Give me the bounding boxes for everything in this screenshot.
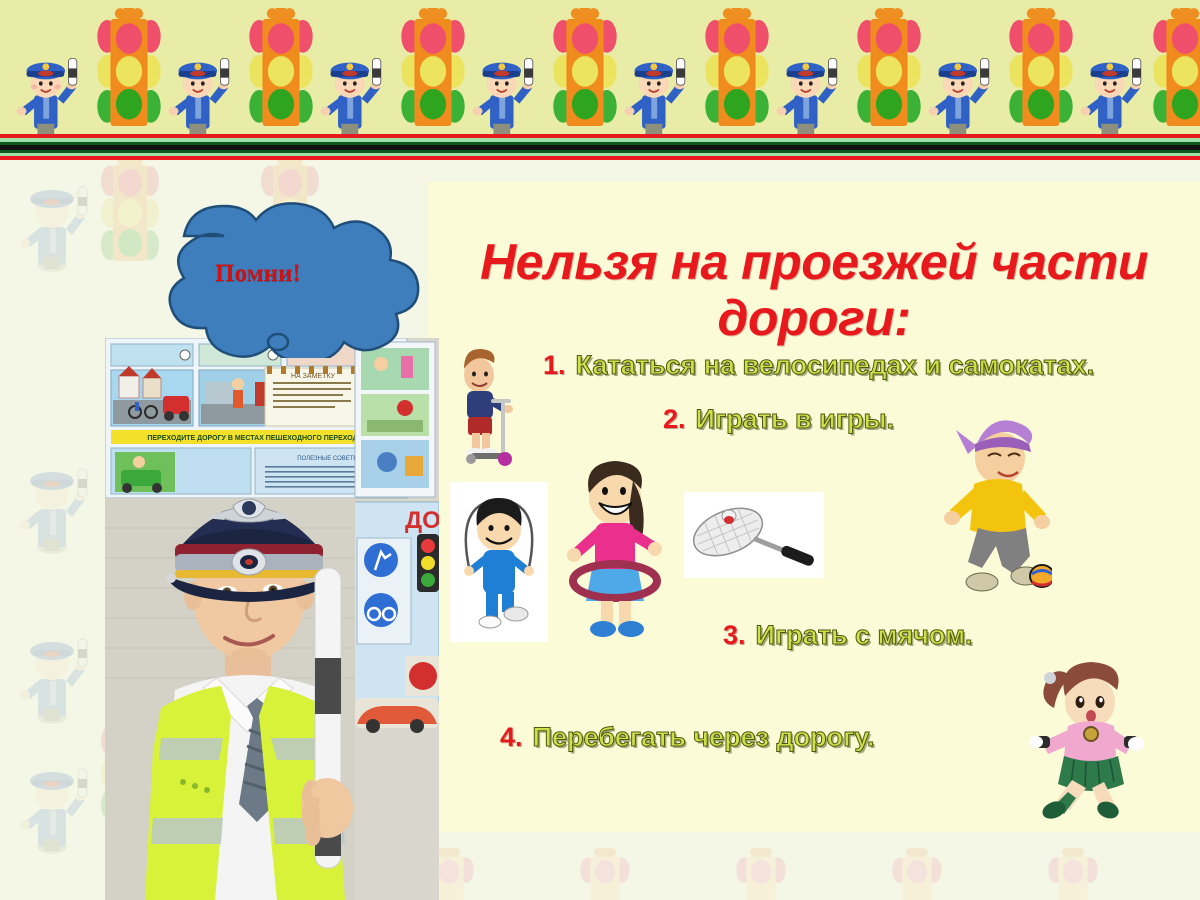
slide-canvas: Нельзя на проезжей части дороги: [0,0,1200,900]
list-item-text: Перебегать через дорогу. [533,722,875,752]
girl-jumping-rope-image [450,482,548,642]
list-item: 4.Перебегать через дорогу. [500,722,875,753]
girl-with-hula-hoop-image [561,457,666,642]
list-item-text: Играть с мячом. [756,620,973,650]
list-item: 2.Играть в игры. [663,404,894,435]
list-item: 1.Кататься на велосипедах и самокатах. [543,350,1094,381]
traffic-light-icon [1044,848,1102,900]
running-girl-image [1028,660,1148,820]
traffic-border-band [0,0,1200,134]
traffic-light-icon [704,8,770,131]
police-boy-icon [922,50,1002,134]
traffic-light-icon [400,8,466,131]
list-item-text: Кататься на велосипедах и самокатах. [576,350,1095,380]
badminton-racket-image [684,492,824,578]
content-panel: Нельзя на проезжей части дороги: [428,182,1200,832]
police-boy-icon [18,625,96,735]
traffic-light-icon [888,848,946,900]
police-boy-icon [314,50,394,134]
police-boy-icon [18,173,96,283]
striped-divider [0,134,1200,160]
thought-cloud: Помни! [88,198,470,346]
traffic-light-icon [248,8,314,131]
boy-kicking-ball-image [942,414,1052,606]
svg-text:ДО: ДО [405,507,439,534]
police-boy-icon [466,50,546,134]
list-item-number: 4. [500,722,523,752]
police-boy-icon [10,50,90,134]
list-item-number: 1. [543,350,566,380]
cloud-label: Помни! [88,260,428,288]
traffic-light-icon [576,848,634,900]
svg-text:НА ЗАМЕТКУ: НА ЗАМЕТКУ [291,373,335,380]
police-boy-icon [1074,50,1154,134]
traffic-light-icon [856,8,922,131]
svg-text:ПЕРЕХОДИТЕ ДОРОГУ В МЕСТАХ ПЕШ: ПЕРЕХОДИТЕ ДОРОГУ В МЕСТАХ ПЕШЕХОДНОГО П… [147,435,362,442]
police-boy-icon [162,50,242,134]
stripe-red-bottom [0,156,1200,160]
police-boy-icon [18,455,96,565]
traffic-light-icon [96,8,162,131]
svg-text:ПОЛЕЗНЫЕ СОВЕТЫ: ПОЛЕЗНЫЕ СОВЕТЫ [297,456,359,462]
police-boy-icon [770,50,850,134]
page-title: Нельзя на проезжей части дороги: [428,234,1200,346]
list-item-number: 2. [663,404,686,434]
traffic-light-icon [732,848,790,900]
list-item-number: 3. [723,620,746,650]
list-item-text: Играть в игры. [696,404,894,434]
list-item: 3.Играть с мячом. [723,620,973,651]
boy-on-scooter-image [455,347,517,469]
traffic-light-icon [1152,8,1200,131]
traffic-light-icon [552,8,618,131]
police-boy-icon [618,50,698,134]
traffic-light-icon [1008,8,1074,131]
boy-traffic-inspector-photo: НА ЗАМЕТКУ ПЕРЕХОДИТЕ ДОРОГУ В МЕСТАХ ПЕ… [105,338,439,900]
